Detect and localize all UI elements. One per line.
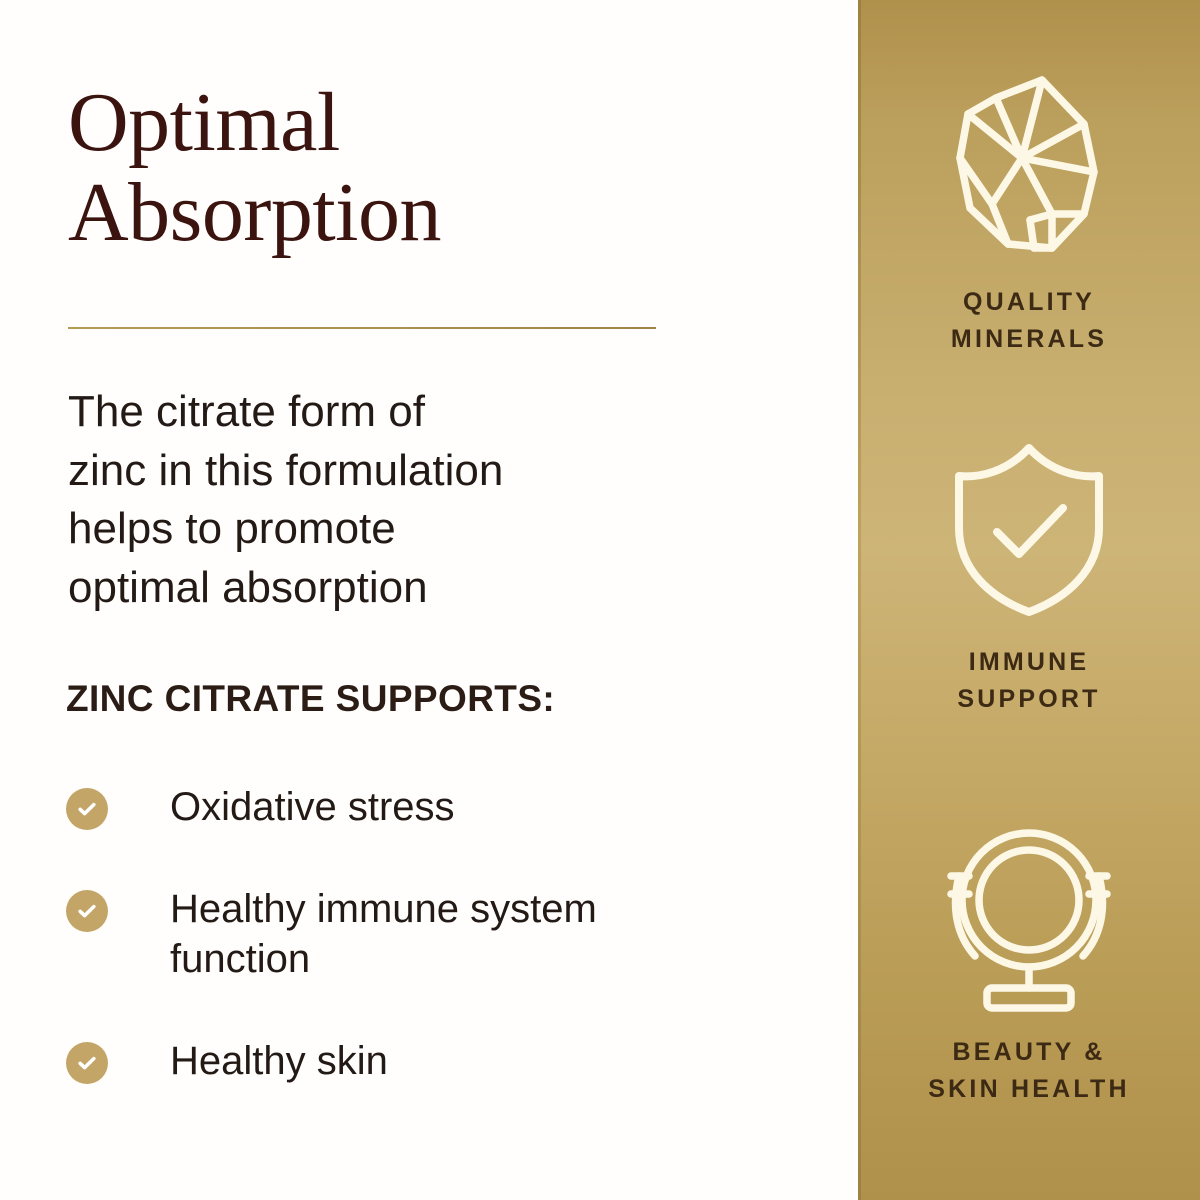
feature-label: QUALITY MINERALS <box>951 284 1107 358</box>
feature-label: IMMUNE SUPPORT <box>957 644 1100 718</box>
page-title: Optimal Absorption <box>68 78 708 258</box>
list-item-label: Oxidative stress <box>170 782 455 832</box>
list-item-text: Healthy skin <box>170 1039 388 1083</box>
feature-label-line-2: SUPPORT <box>957 681 1100 718</box>
infographic-canvas: Optimal Absorption The citrate form of z… <box>0 0 1200 1200</box>
body-line-1: The citrate form of <box>68 383 668 442</box>
list-item: Healthy skin <box>66 1036 746 1086</box>
vanity-mirror-icon <box>929 812 1129 1012</box>
left-content-panel: Optimal Absorption The citrate form of z… <box>0 0 858 1200</box>
check-circle-icon <box>66 1042 108 1084</box>
feature-label-line-1: BEAUTY & <box>953 1038 1106 1066</box>
page-title-line-1: Optimal <box>68 78 708 168</box>
feature-label: BEAUTY & SKIN HEALTH <box>928 1034 1129 1108</box>
feature-sidebar: QUALITY MINERALS IMMUNE SUPPORT <box>858 0 1200 1200</box>
page-title-line-2: Absorption <box>68 168 708 258</box>
benefits-list: Oxidative stress Healthy immune system f… <box>66 782 746 1086</box>
feature-quality-minerals: QUALITY MINERALS <box>858 62 1200 358</box>
feature-immune-support: IMMUNE SUPPORT <box>858 432 1200 718</box>
list-item: Healthy immune system function <box>66 884 746 984</box>
list-item: Oxidative stress <box>66 782 746 832</box>
check-circle-icon <box>66 890 108 932</box>
list-item-label: Healthy skin <box>170 1036 388 1086</box>
feature-beauty-skin-health: BEAUTY & SKIN HEALTH <box>858 812 1200 1108</box>
body-line-4: optimal absorption <box>68 559 668 618</box>
mineral-crystal-icon <box>934 62 1124 262</box>
title-divider <box>68 327 656 329</box>
body-line-2: zinc in this formulation <box>68 442 668 501</box>
supports-heading: ZINC CITRATE SUPPORTS: <box>66 678 555 720</box>
list-item-text: Healthy immune system <box>170 887 597 931</box>
feature-label-line-1: IMMUNE <box>969 648 1090 676</box>
list-item-text-continued: function <box>170 934 597 984</box>
body-paragraph: The citrate form of zinc in this formula… <box>68 383 668 617</box>
feature-label-line-2: MINERALS <box>951 321 1107 358</box>
list-item-label: Healthy immune system function <box>170 884 597 984</box>
feature-label-line-1: QUALITY <box>963 288 1095 316</box>
list-item-text: Oxidative stress <box>170 785 455 829</box>
body-line-3: helps to promote <box>68 500 668 559</box>
check-circle-icon <box>66 788 108 830</box>
shield-check-icon <box>939 432 1119 622</box>
feature-label-line-2: SKIN HEALTH <box>928 1071 1129 1108</box>
